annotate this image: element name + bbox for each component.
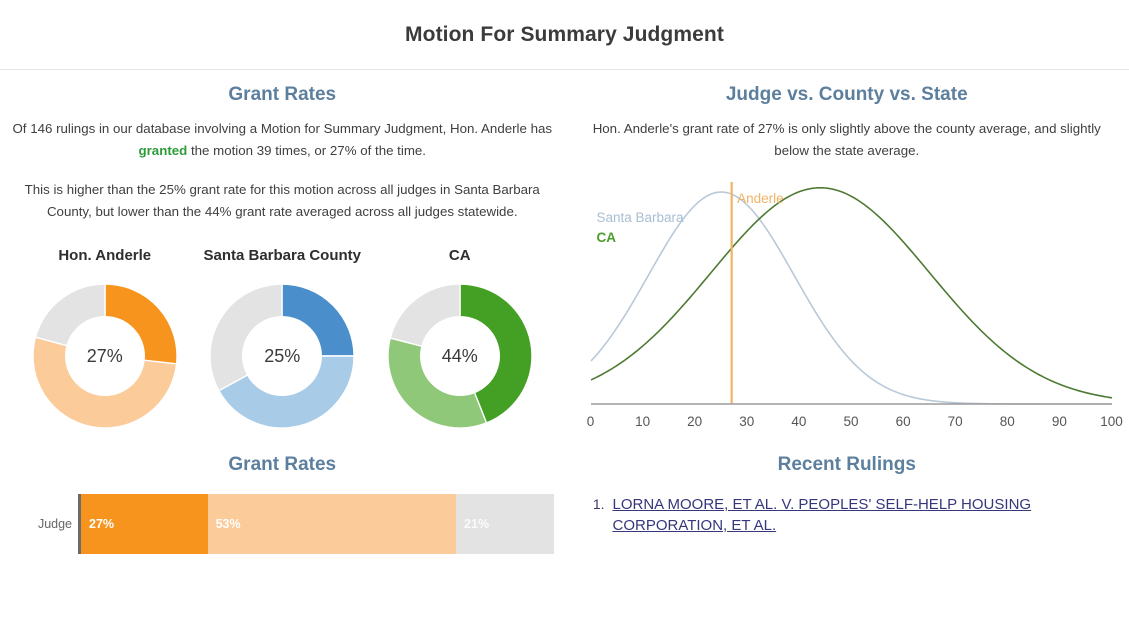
rulings-list: 1. LORNA MOORE, ET AL. V. PEOPLES' SELF-… — [575, 494, 1120, 536]
donut-county: Santa Barbara County 25% — [194, 247, 372, 436]
donut-state-graphic: 44% — [380, 276, 540, 436]
paragraph-1-part-b: the motion 39 times, or 27% of the time. — [187, 143, 426, 158]
x-tick-60: 60 — [896, 414, 911, 429]
x-tick-70: 70 — [948, 414, 963, 429]
donut-judge: Hon. Anderle 27% — [16, 247, 194, 436]
bar-segment-other[interactable]: 21% — [456, 494, 554, 554]
bar-segment-denied[interactable]: 53% — [208, 494, 456, 554]
bar-row-label: Judge — [10, 517, 78, 531]
bottom-row: Grant Rates Judge 27%53%21% Recent Rulin… — [0, 436, 1129, 566]
donut-county-graphic: 25% — [202, 276, 362, 436]
x-tick-20: 20 — [687, 414, 702, 429]
x-tick-10: 10 — [635, 414, 650, 429]
donut-state-label: CA — [371, 247, 549, 264]
distribution-legend: Santa Barbara CA — [597, 208, 684, 248]
x-tick-30: 30 — [739, 414, 754, 429]
legend-santa-barbara: Santa Barbara — [597, 208, 684, 228]
page-title: Motion For Summary Judgment — [405, 23, 724, 47]
x-tick-90: 90 — [1052, 414, 1067, 429]
x-tick-80: 80 — [1000, 414, 1015, 429]
grant-rates-title: Grant Rates — [10, 84, 555, 106]
distribution-chart-svg — [575, 166, 1120, 414]
granted-highlight: granted — [139, 143, 188, 158]
x-tick-40: 40 — [791, 414, 806, 429]
top-row: Grant Rates Of 146 rulings in our databa… — [0, 70, 1129, 436]
distribution-x-axis: 0102030405060708090100 — [575, 414, 1120, 434]
ruling-title-link[interactable]: LORNA MOORE, ET AL. V. PEOPLES' SELF-HEL… — [613, 494, 1114, 536]
dashboard-page: Motion For Summary Judgment Grant Rates … — [0, 0, 1129, 635]
page-header: Motion For Summary Judgment — [0, 0, 1129, 70]
grant-rates-bar-title: Grant Rates — [10, 454, 555, 476]
donut-county-label: Santa Barbara County — [194, 247, 372, 264]
donut-county-svg — [202, 276, 362, 436]
bar-track: 27%53%21% — [81, 494, 555, 554]
grant-rates-paragraph-1: Of 146 rulings in our database involving… — [10, 118, 555, 162]
donut-state-svg — [380, 276, 540, 436]
bar-segment-granted[interactable]: 27% — [81, 494, 208, 554]
distribution-chart: Santa Barbara CA Anderle 010203040506070… — [575, 166, 1120, 434]
anderle-marker-label: Anderle — [737, 191, 784, 206]
grant-rates-paragraph-2: This is higher than the 25% grant rate f… — [10, 179, 555, 223]
x-tick-50: 50 — [843, 414, 858, 429]
list-item: 1. LORNA MOORE, ET AL. V. PEOPLES' SELF-… — [581, 494, 1114, 536]
donut-judge-svg — [25, 276, 185, 436]
x-tick-100: 100 — [1100, 414, 1123, 429]
legend-ca: CA — [597, 228, 684, 248]
donut-chart-group: Hon. Anderle 27% Santa Barbara County — [16, 247, 549, 436]
donut-judge-label: Hon. Anderle — [16, 247, 194, 264]
recent-rulings-panel: Recent Rulings 1. LORNA MOORE, ET AL. V.… — [565, 436, 1129, 566]
grant-rates-panel: Grant Rates Of 146 rulings in our databa… — [0, 70, 565, 436]
grant-rates-bar-panel: Grant Rates Judge 27%53%21% — [0, 436, 565, 566]
stacked-bar-row: Judge 27%53%21% — [10, 494, 555, 554]
x-tick-0: 0 — [587, 414, 595, 429]
donut-judge-graphic: 27% — [25, 276, 185, 436]
donut-state: CA 44% — [371, 247, 549, 436]
comparison-paragraph: Hon. Anderle's grant rate of 27% is only… — [575, 118, 1120, 162]
paragraph-1-part-a: Of 146 rulings in our database involving… — [12, 121, 552, 136]
comparison-title: Judge vs. County vs. State — [575, 84, 1120, 106]
recent-rulings-title: Recent Rulings — [575, 454, 1120, 476]
comparison-panel: Judge vs. County vs. State Hon. Anderle'… — [565, 70, 1129, 436]
ruling-number: 1. — [581, 494, 613, 536]
stacked-bar-chart: Judge 27%53%21% — [10, 494, 555, 566]
